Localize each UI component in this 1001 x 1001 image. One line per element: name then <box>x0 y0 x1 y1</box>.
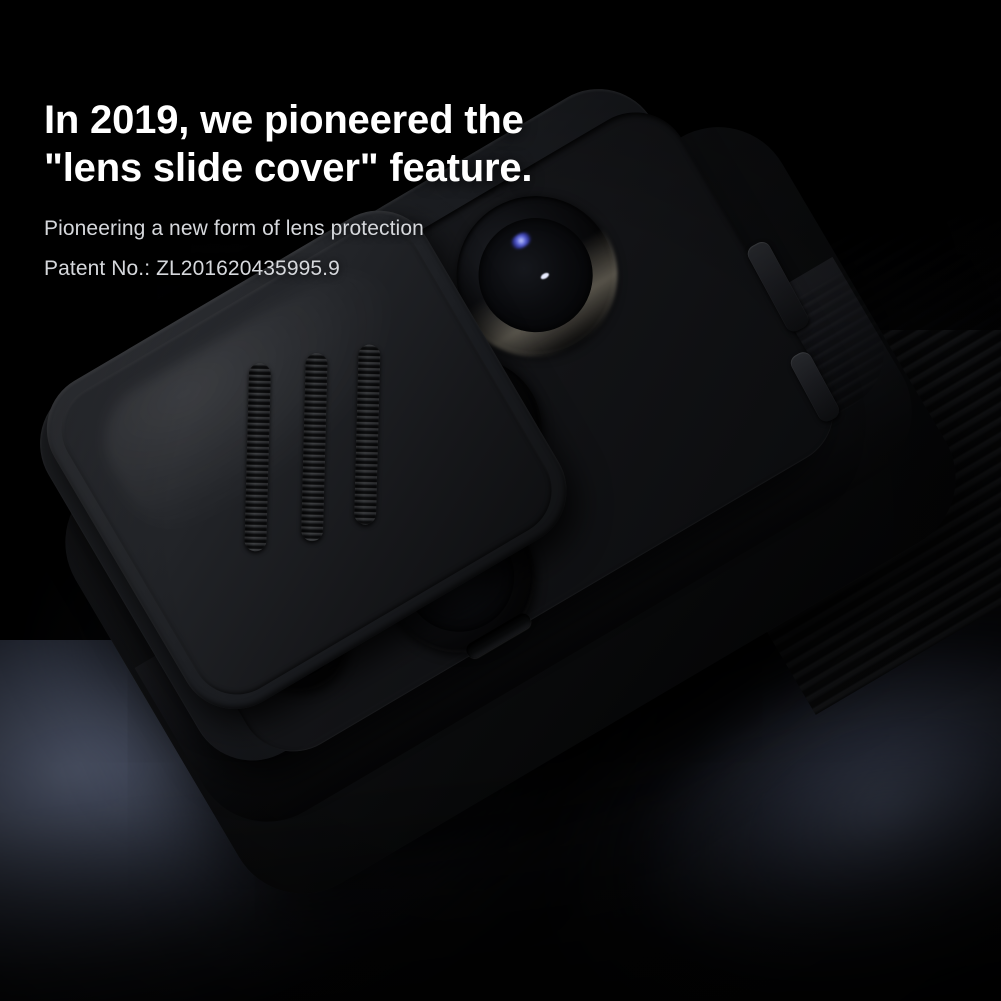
cover-grip-rib <box>301 353 328 542</box>
product-hero-scene: In 2019, we pioneered the "lens slide co… <box>0 0 1001 1001</box>
cover-grip-rib <box>244 363 271 552</box>
cover-grip-rib <box>354 344 381 525</box>
